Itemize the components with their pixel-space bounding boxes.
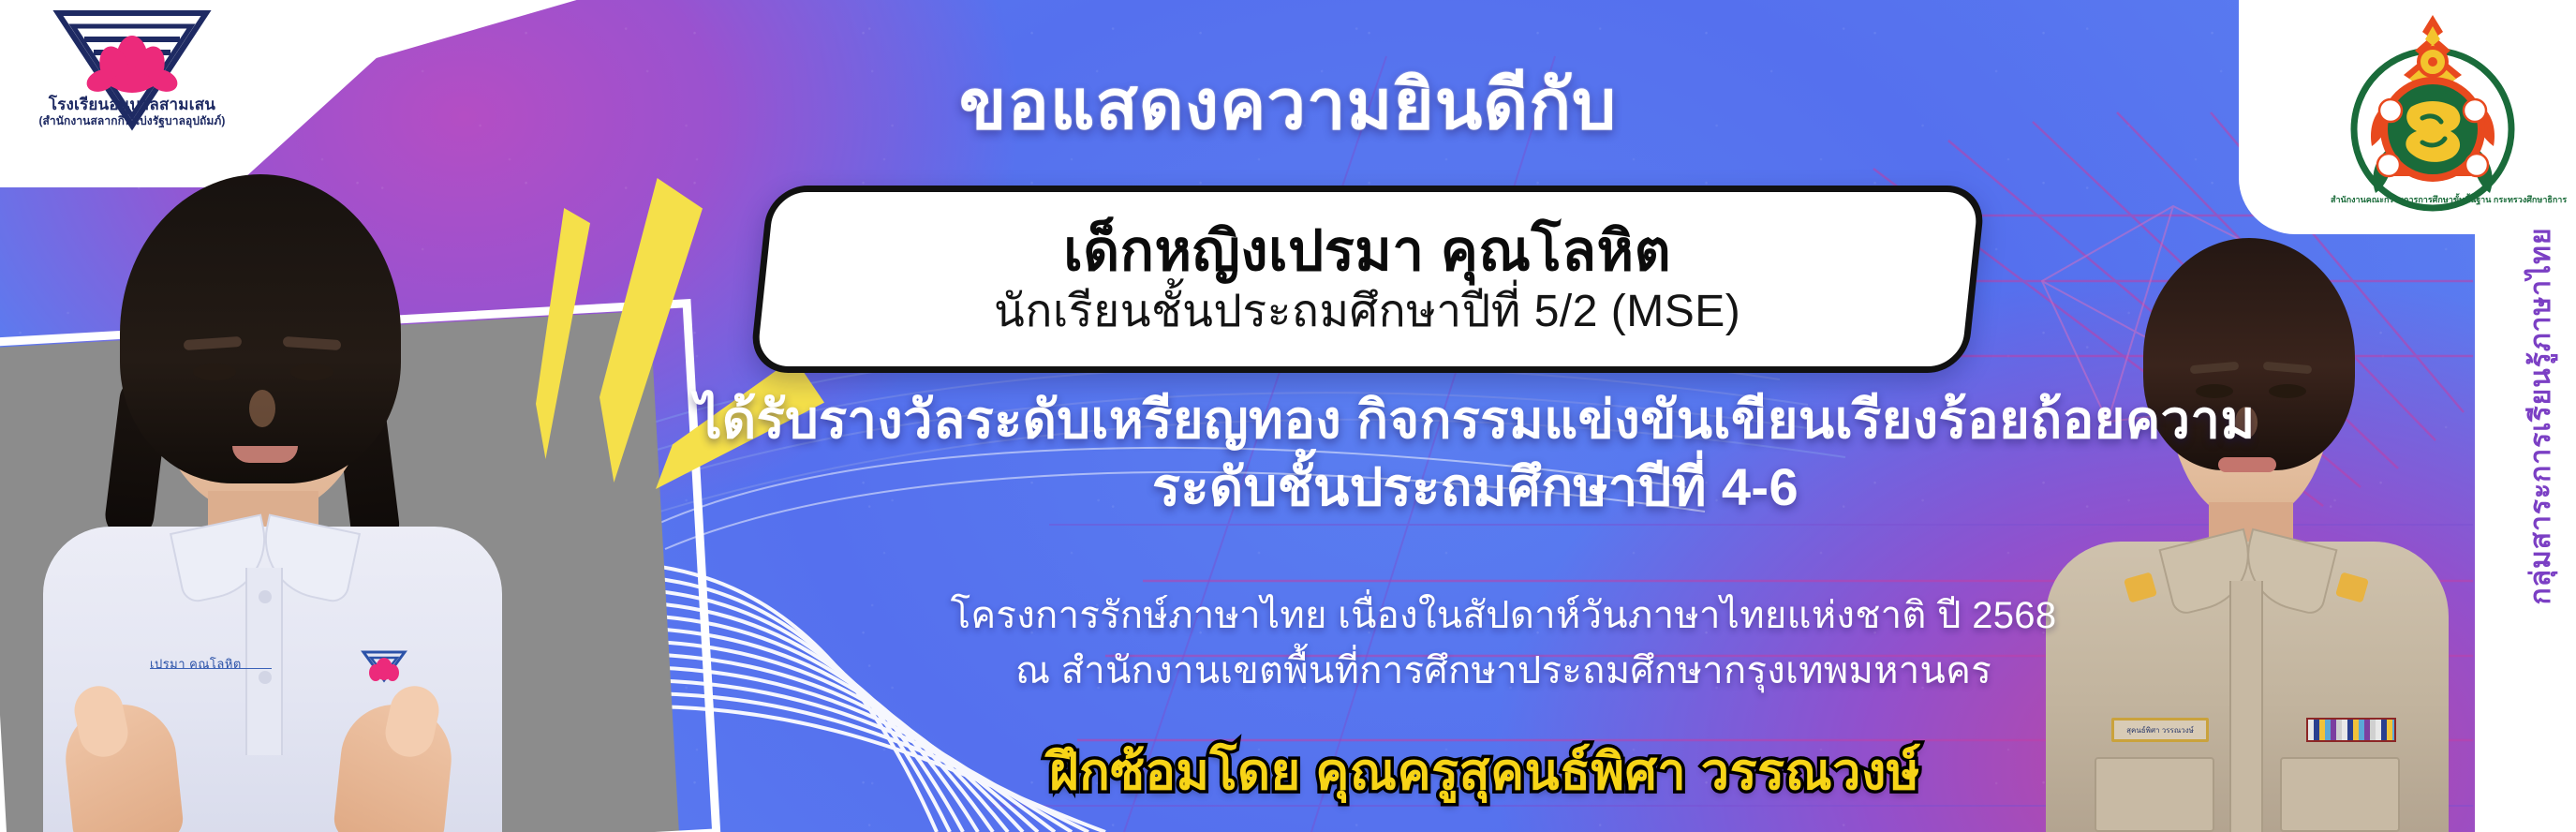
student-mouth xyxy=(232,446,298,463)
student-eye-left xyxy=(193,364,236,380)
student-hair xyxy=(120,174,401,483)
trainer-credit: ฝึกซ้อมโดย คุณครูสุคนธ์พิศา วรรณวงษ์ xyxy=(581,731,2389,811)
student-photo: เปรมา คุณโลหิต xyxy=(9,165,534,832)
page-title: ขอแสดงความยินดีกับ xyxy=(0,49,2576,159)
student-name-box: เด็กหญิงเปรมา คุณโลหิต นักเรียนชั้นประถม… xyxy=(748,186,1986,373)
student-nose xyxy=(249,390,275,427)
award-line-1: ได้รับรางวัลระดับเหรียญทอง กิจกรรมแข่งขั… xyxy=(695,390,2255,449)
student-class: นักเรียนชั้นประถมศึกษาปีที่ 5/2 (MSE) xyxy=(994,286,1740,339)
department-vertical-label: กลุ่มสาระการเรียนรู้ภาษาไทย xyxy=(2519,227,2563,604)
award-text: ได้รับรางวัลระดับเหรียญทอง กิจกรรมแข่งขั… xyxy=(562,386,2389,520)
congratulations-banner: เปรมา คุณโลหิต สุคนธ์พิศา xyxy=(0,0,2576,832)
event-detail: โครงการรักษ์ภาษาไทย เนื่องในสัปดาห์วันภา… xyxy=(600,588,2407,699)
student-shirt-nametag: เปรมา คุณโลหิต xyxy=(150,654,272,669)
event-venue-line: ณ สำนักงานเขตพื้นที่การศึกษาประถมศึกษากร… xyxy=(600,644,2407,699)
obec-logo-caption: สำนักงานคณะกรรมการการศึกษาขั้นพื้นฐาน กร… xyxy=(2331,193,2535,206)
student-shirt-button-bottom xyxy=(259,671,272,684)
student-name: เด็กหญิงเปรมา คุณโลหิต xyxy=(994,219,1740,282)
student-shirt-button-top xyxy=(259,590,272,603)
student-eye-right xyxy=(290,364,333,380)
award-line-2: ระดับชั้นประถมศึกษาปีที่ 4-6 xyxy=(562,453,2389,521)
event-project-line: โครงการรักษ์ภาษาไทย เนื่องในสัปดาห์วันภา… xyxy=(600,588,2407,644)
